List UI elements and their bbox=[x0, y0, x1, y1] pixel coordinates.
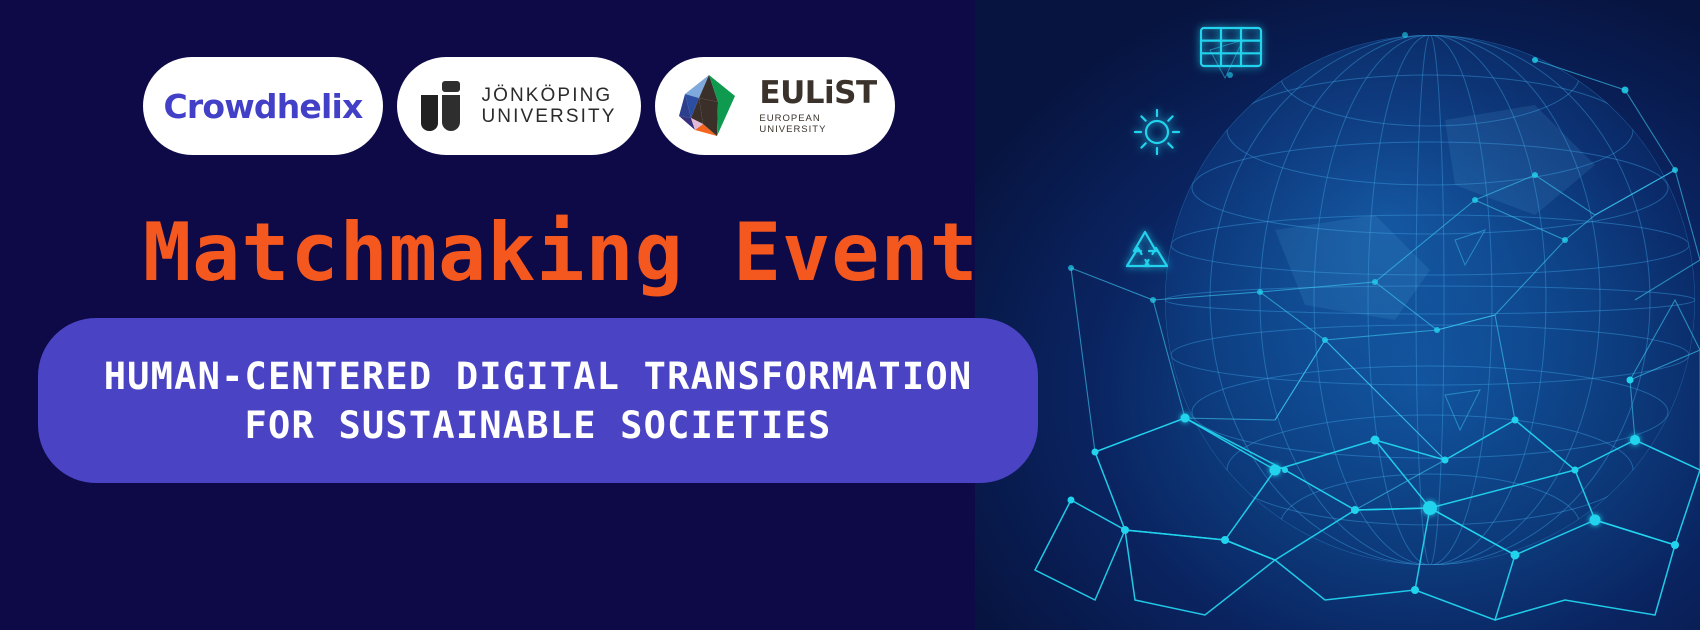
recycle-icon bbox=[1127, 232, 1167, 266]
page-title: Matchmaking Event bbox=[143, 206, 979, 299]
logo-crowdhelix[interactable]: Crowdhelix bbox=[143, 57, 383, 155]
globe-network-graphic bbox=[975, 0, 1700, 630]
solar-panel-icon bbox=[1201, 28, 1261, 66]
jonkoping-wordmark: JÖNKÖPING UNIVERSITY bbox=[481, 85, 616, 128]
eulist-subtitle: EUROPEAN UNIVERSITY bbox=[759, 113, 876, 135]
artwork-panel bbox=[975, 0, 1700, 630]
subtitle-line-1: HUMAN-CENTERED DIGITAL TRANSFORMATION bbox=[104, 355, 973, 398]
subtitle-line-2: FOR SUSTAINABLE SOCIETIES bbox=[245, 404, 832, 447]
logo-jonkoping-university[interactable]: JÖNKÖPING UNIVERSITY bbox=[397, 57, 641, 155]
jonkoping-line-1: JÖNKÖPING bbox=[481, 85, 612, 106]
logo-row: Crowdhelix JÖNKÖPING UNIVERSITY bbox=[143, 57, 895, 155]
event-banner: Crowdhelix JÖNKÖPING UNIVERSITY bbox=[0, 0, 1700, 630]
logo-eulist[interactable]: EULiST EUROPEAN UNIVERSITY bbox=[655, 57, 895, 155]
globe-sphere bbox=[1165, 22, 1695, 578]
crowdhelix-wordmark: Crowdhelix bbox=[163, 87, 362, 126]
sun-icon bbox=[1135, 110, 1179, 154]
subtitle-banner: HUMAN-CENTERED DIGITAL TRANSFORMATION FO… bbox=[38, 318, 1038, 483]
eulist-name: EULiST bbox=[759, 78, 876, 109]
jonkoping-j-mark-icon bbox=[421, 81, 465, 131]
eulist-polygon-mark-icon bbox=[673, 72, 747, 140]
content-panel: Crowdhelix JÖNKÖPING UNIVERSITY bbox=[0, 0, 975, 630]
jonkoping-line-2: UNIVERSITY bbox=[481, 106, 616, 127]
eulist-wordmark: EULiST EUROPEAN UNIVERSITY bbox=[759, 78, 876, 135]
